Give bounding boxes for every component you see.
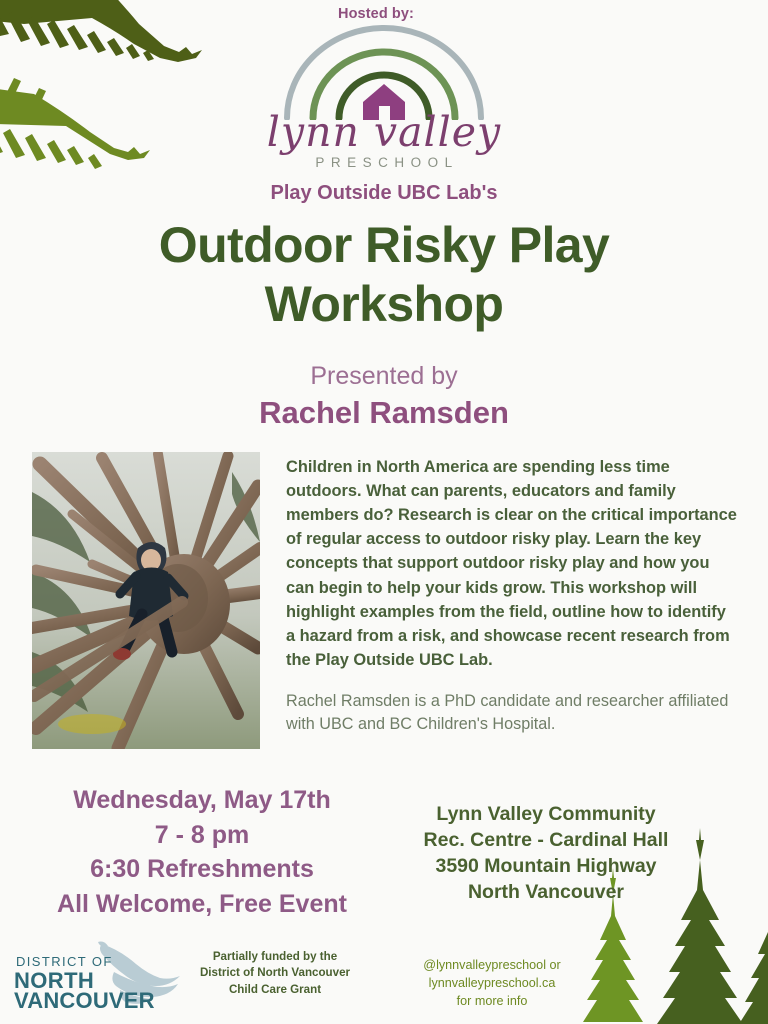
hosted-by-label: Hosted by: <box>0 6 768 22</box>
dnv-line3: VANCOUVER <box>14 988 155 1012</box>
dnv-line1: DISTRICT OF <box>16 954 113 969</box>
poster: Hosted by: lynn valley PRESCHOOL Play Ou… <box>0 0 768 1024</box>
page-title: Outdoor Risky Play Workshop <box>56 216 712 334</box>
venue-city: North Vancouver <box>396 879 696 905</box>
contact-website: lynnvalleypreschool.ca <box>392 974 592 992</box>
event-time: 7 - 8 pm <box>16 818 388 853</box>
event-refreshments: 6:30 Refreshments <box>16 852 388 887</box>
lynn-valley-preschool-logo: lynn valley PRESCHOOL <box>0 22 768 170</box>
page-title-line2: Workshop <box>56 275 712 334</box>
event-venue-block: Lynn Valley Community Rec. Centre - Card… <box>396 801 696 906</box>
venue-street: 3590 Mountain Highway <box>396 853 696 879</box>
event-admission: All Welcome, Free Event <box>16 887 388 922</box>
logo-script-name: lynn valley <box>267 112 501 153</box>
funding-note-line2: District of North Vancouver <box>180 965 370 981</box>
description-main: Children in North America are spending l… <box>286 455 738 672</box>
eyebrow-lab-name: Play Outside UBC Lab's <box>0 182 768 205</box>
contact-more-info: for more info <box>392 992 592 1010</box>
presented-by-label: Presented by <box>0 362 768 391</box>
rainbow-arcs-icon <box>279 22 489 120</box>
presenter-bio: Rachel Ramsden is a PhD candidate and re… <box>286 690 738 737</box>
contact-handle: @lynnvalleypreschool or <box>392 956 592 974</box>
venue-name: Lynn Valley Community <box>396 801 696 827</box>
funding-note-line3: Child Care Grant <box>180 982 370 998</box>
event-datetime-block: Wednesday, May 17th 7 - 8 pm 6:30 Refres… <box>16 783 388 921</box>
presenter-name: Rachel Ramsden <box>0 395 768 431</box>
district-of-north-vancouver-logo: DISTRICT OF NORTH VANCOUVER <box>10 940 182 1012</box>
page-title-line1: Outdoor Risky Play <box>56 216 712 275</box>
funding-note: Partially funded by the District of Nort… <box>180 949 370 998</box>
tree-dark-right <box>739 932 768 1024</box>
venue-hall: Rec. Centre - Cardinal Hall <box>396 827 696 853</box>
event-date: Wednesday, May 17th <box>16 783 388 818</box>
tree-climbing-photo <box>32 452 260 749</box>
description-column: Children in North America are spending l… <box>286 455 738 737</box>
contact-note: @lynnvalleypreschool or lynnvalleypresch… <box>392 956 592 1010</box>
logo-subtitle: PRESCHOOL <box>309 155 458 170</box>
funding-note-line1: Partially funded by the <box>180 949 370 965</box>
